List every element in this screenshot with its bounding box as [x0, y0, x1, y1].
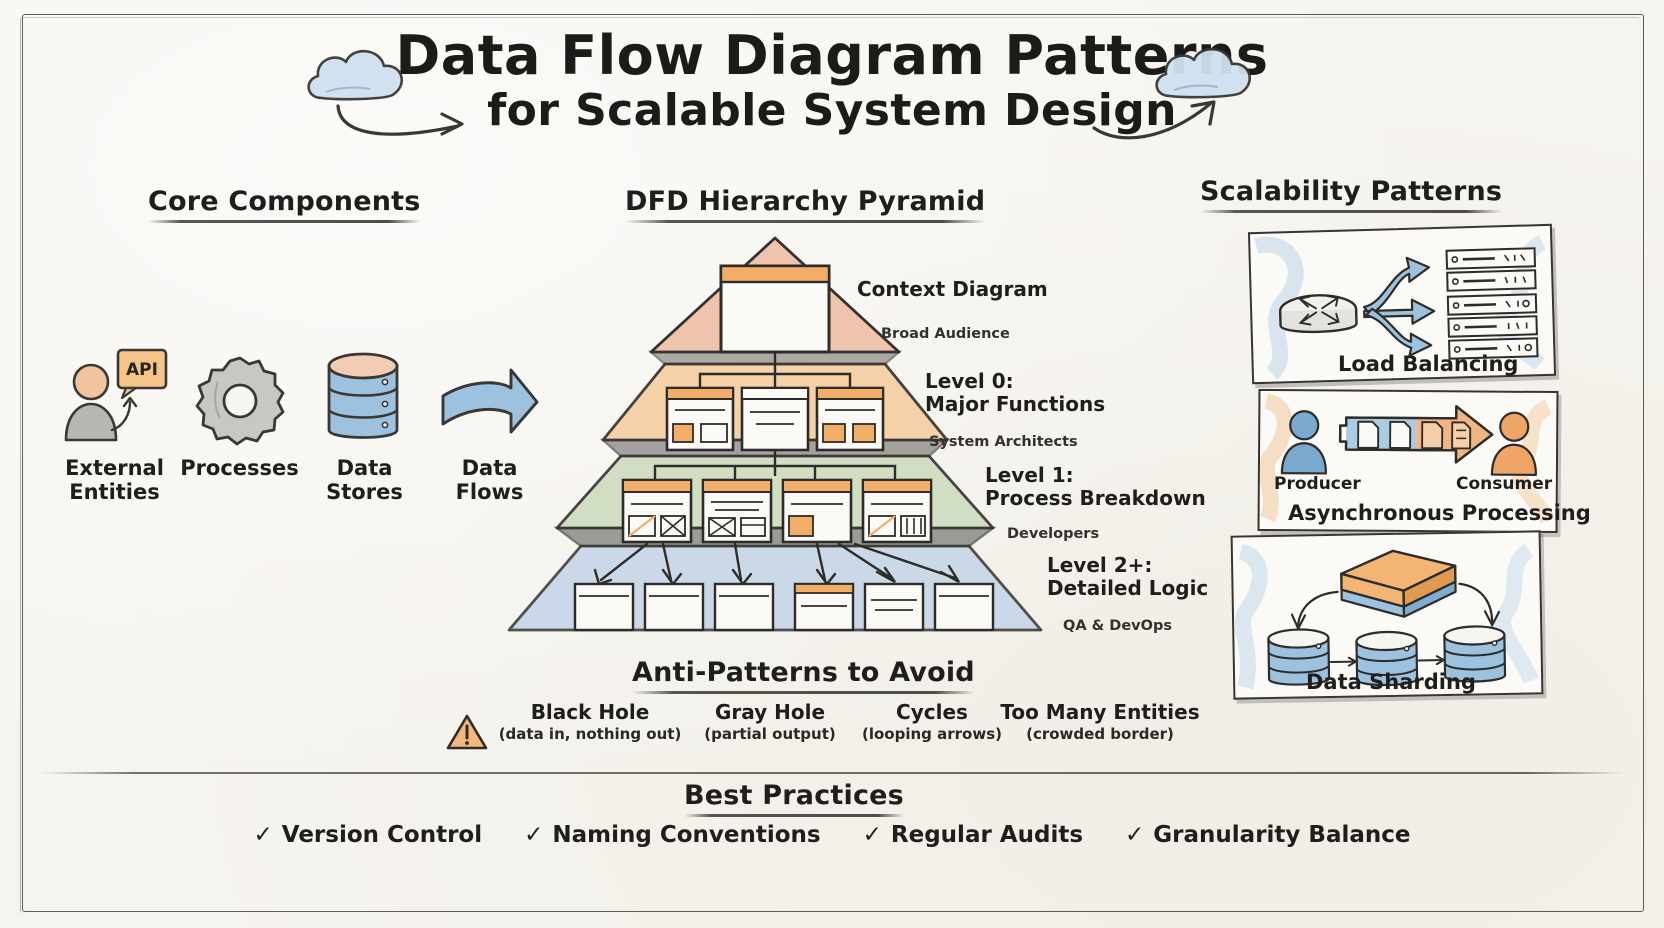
async-processing-caption: Asynchronous Processing [1288, 501, 1591, 525]
core-component-label: External Entities [52, 456, 177, 505]
pyramid-node-level0 [667, 388, 733, 450]
best-practice-label: Regular Audits [891, 822, 1083, 848]
title-underline [684, 814, 904, 817]
pyramid-node-level2 [575, 584, 633, 630]
best-practice-item[interactable]: ✓ Version Control [254, 822, 483, 848]
anti-pattern-name: Gray Hole [680, 700, 860, 724]
pyramid-audience-level2: QA & DevOps [1063, 618, 1172, 634]
pyramid-node-level2 [645, 584, 703, 630]
pyramid-label-level0: Level 0: Major Functions [925, 370, 1105, 416]
anti-pattern-item[interactable]: Black Hole (data in, nothing out) [490, 700, 690, 743]
check-icon: ✓ [1125, 822, 1144, 848]
scalability-title: Scalability Patterns [1200, 176, 1502, 213]
pyramid-node-level1 [863, 480, 931, 542]
anti-patterns-title: Anti-Patterns to Avoid [632, 657, 975, 694]
pyramid-node-level2 [715, 584, 773, 630]
core-components-title: Core Components [148, 186, 421, 223]
title-underline [625, 220, 985, 223]
pyramid-audience-level0: System Architects [929, 434, 1078, 450]
pyramid-node-level1 [783, 480, 851, 542]
anti-pattern-item[interactable]: Gray Hole (partial output) [680, 700, 860, 743]
queue-arrow-icon [1340, 406, 1492, 463]
pyramid-node-level0 [742, 388, 808, 450]
page-title: Data Flow Diagram Patterns [0, 28, 1664, 84]
check-icon: ✓ [863, 822, 882, 848]
core-component-external-entities[interactable]: API External Entities [52, 340, 177, 505]
page-subtitle: for Scalable System Design [0, 86, 1664, 135]
pyramid-title: DFD Hierarchy Pyramid [625, 186, 985, 223]
best-practice-item[interactable]: ✓ Naming Conventions [524, 822, 821, 848]
server-stack-icon [1447, 248, 1538, 358]
anti-pattern-note: (crowded border) [1000, 725, 1200, 743]
dfd-hierarchy-pyramid: Context Diagram Broad Audience Level 0: … [495, 228, 1055, 638]
anti-pattern-note: (looping arrows) [842, 725, 1022, 743]
pyramid-node-level0 [817, 388, 883, 450]
anti-patterns-row: Black Hole (data in, nothing out) Gray H… [430, 700, 1190, 760]
check-icon: ✓ [524, 822, 543, 848]
load-balancing-caption: Load Balancing [1338, 352, 1518, 376]
title-underline [1200, 210, 1502, 213]
pyramid-node-level2 [865, 584, 923, 630]
best-practice-label: Granularity Balance [1153, 822, 1410, 848]
core-component-label: Data Stores [302, 456, 427, 505]
best-practices-title: Best Practices [684, 780, 904, 817]
pyramid-label-context: Context Diagram [857, 278, 1048, 301]
shard-slab-icon [1341, 550, 1456, 618]
anti-pattern-note: (data in, nothing out) [490, 725, 690, 743]
database-cylinder-icon [302, 340, 427, 448]
pyramid-audience-level1: Developers [1007, 526, 1099, 542]
best-practice-item[interactable]: ✓ Granularity Balance [1125, 822, 1410, 848]
pyramid-node-level1 [703, 480, 771, 542]
poster-header: Data Flow Diagram Patterns for Scalable … [0, 28, 1664, 135]
best-practice-label: Version Control [282, 822, 482, 848]
core-component-data-stores[interactable]: Data Stores [302, 340, 427, 505]
consumer-label: Consumer [1456, 474, 1552, 494]
best-practices-row: ✓ Version Control ✓ Naming Conventions ✓… [0, 822, 1664, 848]
anti-pattern-note: (partial output) [680, 725, 860, 743]
best-practice-label: Naming Conventions [552, 822, 820, 848]
title-underline [148, 220, 421, 223]
curved-arrow-icon [1090, 98, 1240, 148]
core-components-row: API External Entities Processes [52, 340, 552, 505]
best-practices-divider [40, 772, 1624, 774]
core-component-label: Processes [177, 456, 302, 480]
pyramid-node-level1 [623, 480, 691, 542]
best-practice-item[interactable]: ✓ Regular Audits [863, 822, 1083, 848]
core-component-processes[interactable]: Processes [177, 340, 302, 505]
pyramid-label-level2: Level 2+: Detailed Logic [1047, 554, 1208, 600]
router-icon [1280, 294, 1357, 333]
pyramid-node-level2 [935, 584, 993, 630]
pyramid-node-level2 [795, 584, 853, 630]
data-sharding-caption: Data Sharding [1306, 670, 1476, 694]
anti-pattern-name: Black Hole [490, 700, 690, 724]
pyramid-audience-context: Broad Audience [881, 326, 1010, 342]
title-underline [632, 691, 975, 694]
pyramid-node-context [721, 266, 829, 352]
pyramid-label-level1: Level 1: Process Breakdown [985, 464, 1206, 510]
anti-pattern-name: Cycles [842, 700, 1022, 724]
gear-icon [177, 340, 302, 448]
anti-pattern-name: Too Many Entities [1000, 700, 1200, 724]
curved-arrow-icon [330, 100, 480, 150]
anti-pattern-item[interactable]: Too Many Entities (crowded border) [1000, 700, 1200, 743]
user-with-api-bubble-icon: API [52, 340, 177, 448]
check-icon: ✓ [254, 822, 273, 848]
fanout-arrows-icon [1363, 257, 1436, 357]
producer-label: Producer [1274, 474, 1361, 494]
api-badge-label: API [126, 360, 158, 380]
anti-pattern-item[interactable]: Cycles (looping arrows) [842, 700, 1022, 743]
